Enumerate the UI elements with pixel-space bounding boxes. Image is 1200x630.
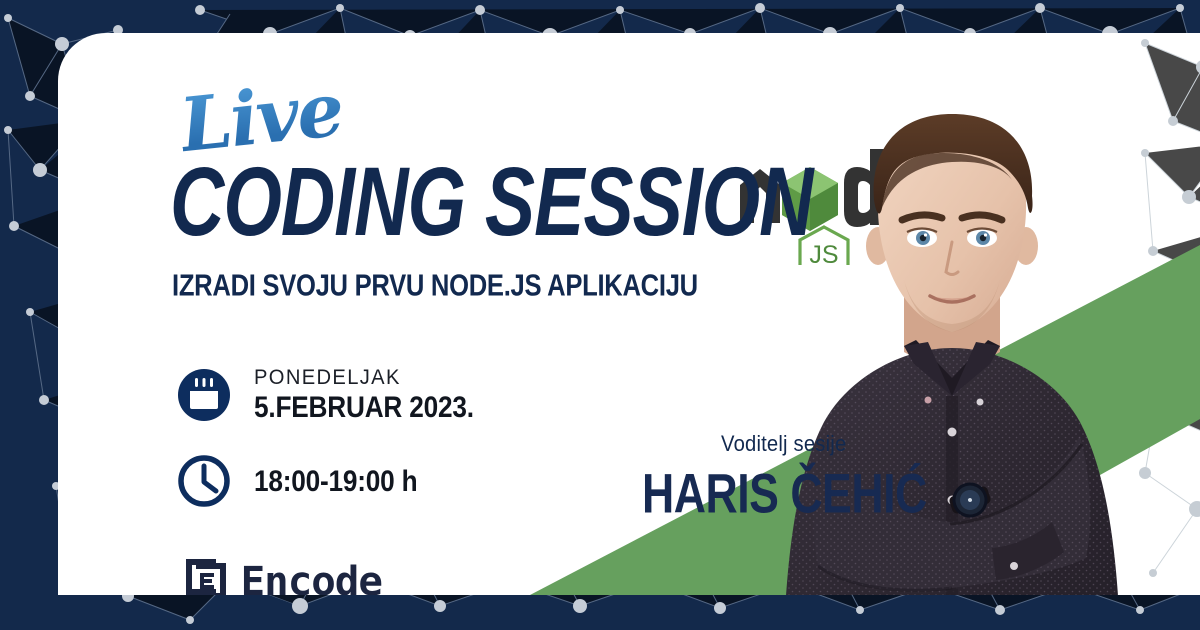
date-row: PONEDELJAK 5.FEBRUAR 2023. (176, 365, 481, 425)
clock-icon (176, 453, 232, 509)
encode-mark-icon (184, 557, 228, 595)
page-title: CODING SESSION (170, 157, 813, 250)
date-text: PONEDELJAK 5.FEBRUAR 2023. (254, 365, 481, 425)
schedule-block: PONEDELJAK 5.FEBRUAR 2023. 18:00-19:00 h (176, 365, 481, 537)
live-script-word: Live (177, 73, 346, 164)
encode-wordmark: Encode (241, 562, 382, 596)
time-value: 18:00-19:00 h (254, 464, 417, 498)
date-value: 5.FEBRUAR 2023. (254, 390, 474, 427)
content-card: Live CODING SESSION IZRADI SVOJU PRVU NO… (58, 33, 1200, 595)
subtitle: IZRADI SVOJU PRVU NODE.JS APLIKACIJU (172, 267, 698, 304)
time-row: 18:00-19:00 h (176, 453, 481, 509)
calendar-icon (176, 367, 232, 423)
presenter-role-label: Voditelj sesije (721, 431, 846, 457)
presenter-name: HARIS ČEHIĆ (642, 461, 927, 526)
encode-logo: Encode (184, 557, 381, 595)
promo-banner: Live CODING SESSION IZRADI SVOJU PRVU NO… (0, 0, 1200, 630)
day-label: PONEDELJAK (254, 365, 472, 391)
